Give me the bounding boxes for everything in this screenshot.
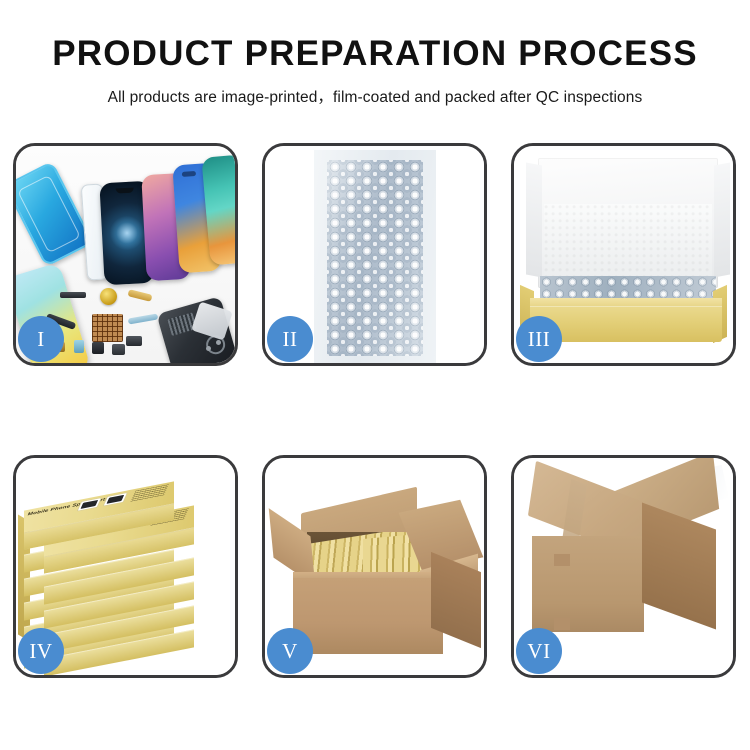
screw-part-1 xyxy=(216,340,221,345)
copper-mesh-part xyxy=(92,314,123,342)
connector-part-2 xyxy=(92,342,104,354)
retail-box-spec-lines-back xyxy=(130,484,169,501)
step-badge-1: I xyxy=(18,316,64,362)
step-badge-3: III xyxy=(516,316,562,362)
step-panel-6: VI xyxy=(511,455,736,678)
page-title: PRODUCT PREPARATION PROCESS xyxy=(0,36,750,71)
step-badge-2: II xyxy=(267,316,313,362)
step-panel-2: II xyxy=(262,143,487,366)
step-panel-4: Mobile Phone Spare Parts Mobile Phone Sp… xyxy=(13,455,238,678)
header: PRODUCT PREPARATION PROCESS All products… xyxy=(0,0,750,107)
charging-coil-part xyxy=(100,288,117,305)
bubble-wrapped-screen xyxy=(327,160,423,356)
step-panel-3: III xyxy=(511,143,736,366)
process-steps-grid: I II xyxy=(13,143,737,678)
sealed-carton-side-face xyxy=(642,503,716,630)
step-panel-1: I xyxy=(13,143,238,366)
carton-front-face xyxy=(293,578,443,654)
flex-cable-blue xyxy=(128,313,159,324)
screw-part-2 xyxy=(206,346,211,351)
step-badge-4: IV xyxy=(18,628,64,674)
retail-box-phone-image-4 xyxy=(103,492,129,506)
flex-cable-gold xyxy=(128,289,153,302)
page-subtitle: All products are image-printed，film-coat… xyxy=(0,85,750,107)
foam-insert xyxy=(544,204,712,278)
product-preparation-infographic: PRODUCT PREPARATION PROCESS All products… xyxy=(0,0,750,750)
carton-tab-upper xyxy=(554,554,570,566)
connector-part-3 xyxy=(112,344,125,355)
sealed-carton-front-face xyxy=(532,536,644,632)
step-badge-5: V xyxy=(267,628,313,674)
ic-chip-part xyxy=(126,336,142,346)
step-panel-5: V xyxy=(262,455,487,678)
carton-tab-lower xyxy=(554,618,570,630)
plastic-gloss-overlay xyxy=(327,160,423,356)
step-badge-6: VI xyxy=(516,628,562,674)
connector-part-1 xyxy=(74,340,84,353)
retail-box-phone-image-3 xyxy=(77,497,103,511)
earpiece-mesh-part xyxy=(60,292,86,298)
